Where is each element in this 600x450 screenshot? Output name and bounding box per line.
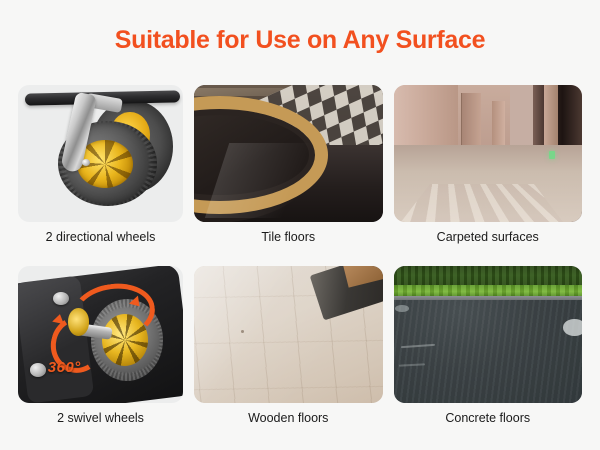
surface-tile-caption: Tile floors bbox=[261, 231, 315, 245]
axle-bolt-shape bbox=[82, 159, 90, 166]
swivel-wheels-photo[interactable]: 360° bbox=[18, 266, 183, 403]
wooden-floor-photo[interactable] bbox=[194, 266, 383, 403]
surface-tile-caption: Carpeted surfaces bbox=[437, 231, 539, 245]
asphalt-surface-shape bbox=[394, 300, 583, 403]
rotation-arrowhead-left-icon bbox=[52, 313, 66, 324]
asphalt-light-blob-shape bbox=[563, 319, 582, 335]
corridor-door-2-shape bbox=[492, 101, 505, 148]
product-feature-banner: Suitable for Use on Any Surface 2 direct… bbox=[0, 0, 600, 450]
concrete-floor-photo[interactable] bbox=[394, 266, 583, 403]
surface-tile-4[interactable]: Wooden floors bbox=[194, 266, 383, 426]
surface-tile-caption: Wooden floors bbox=[248, 412, 328, 426]
surface-tile-2[interactable]: Carpeted surfaces bbox=[394, 85, 583, 245]
directional-wheels-photo[interactable] bbox=[18, 85, 183, 222]
surface-tile-5[interactable]: Concrete floors bbox=[394, 266, 583, 426]
page-title: Suitable for Use on Any Surface bbox=[0, 26, 600, 55]
plate-screw-bottom-shape bbox=[30, 363, 47, 377]
carpeted-surface-photo[interactable] bbox=[394, 85, 583, 222]
green-exit-light-icon bbox=[549, 151, 555, 159]
surface-tile-1[interactable]: Tile floors bbox=[194, 85, 383, 245]
surface-tile-3[interactable]: 360° 2 swivel wheels bbox=[18, 266, 183, 426]
floor-light-pattern-shape bbox=[401, 184, 563, 222]
floor-reflection-shape bbox=[204, 143, 342, 218]
tile-floor-photo[interactable] bbox=[194, 85, 383, 222]
surface-tile-caption: 2 swivel wheels bbox=[57, 412, 144, 426]
surface-tile-grid: 2 directional wheels Tile floors bbox=[18, 85, 582, 426]
surface-tile-caption: 2 directional wheels bbox=[46, 231, 156, 245]
surface-tile-0[interactable]: 2 directional wheels bbox=[18, 85, 183, 245]
rotation-degree-label: 360° bbox=[48, 359, 81, 376]
surface-tile-caption: Concrete floors bbox=[445, 412, 530, 426]
